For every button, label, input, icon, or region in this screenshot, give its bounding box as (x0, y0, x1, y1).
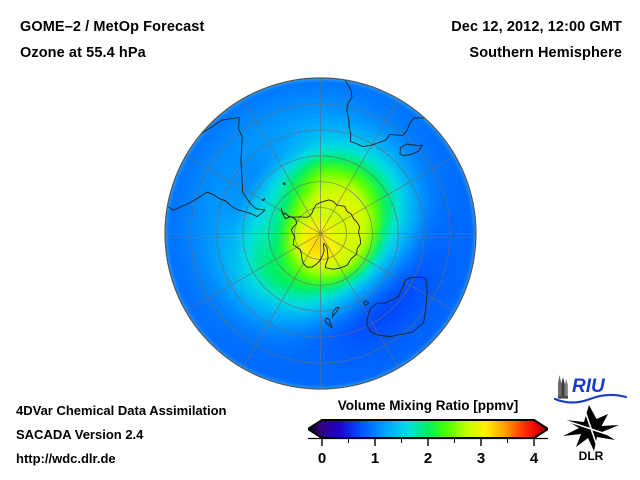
version-label: SACADA Version 2.4 (16, 427, 143, 442)
region-label: Southern Hemisphere (469, 45, 622, 61)
colorbar-tick-labels: 01234 (318, 450, 539, 467)
method-label: 4DVar Chemical Data Assimilation (16, 403, 227, 418)
colorbar-ramp (308, 420, 548, 438)
dlr-wordmark: DLR (579, 449, 604, 462)
logo-group: RIU DLR (548, 372, 636, 464)
website-link[interactable]: http://wdc.dlr.de (16, 451, 116, 466)
colorbar-scale: 01234 (308, 418, 548, 470)
page-subtitle: Ozone at 55.4 hPa (20, 45, 146, 61)
dlr-logo: DLR (558, 404, 624, 462)
page-title: GOME–2 / MetOp Forecast (20, 19, 204, 35)
riu-logo: RIU (552, 372, 630, 404)
forecast-datetime: Dec 12, 2012, 12:00 GMT (451, 19, 622, 35)
orthographic-globe (163, 76, 478, 391)
colorbar-ticks (308, 438, 548, 446)
colorbar: Volume Mixing Ratio [ppmv] 01234 (308, 398, 548, 470)
ozone-map (163, 76, 478, 391)
riu-wordmark: RIU (572, 376, 606, 397)
colorbar-title: Volume Mixing Ratio [ppmv] (308, 398, 548, 413)
cathedral-icon (558, 375, 568, 399)
